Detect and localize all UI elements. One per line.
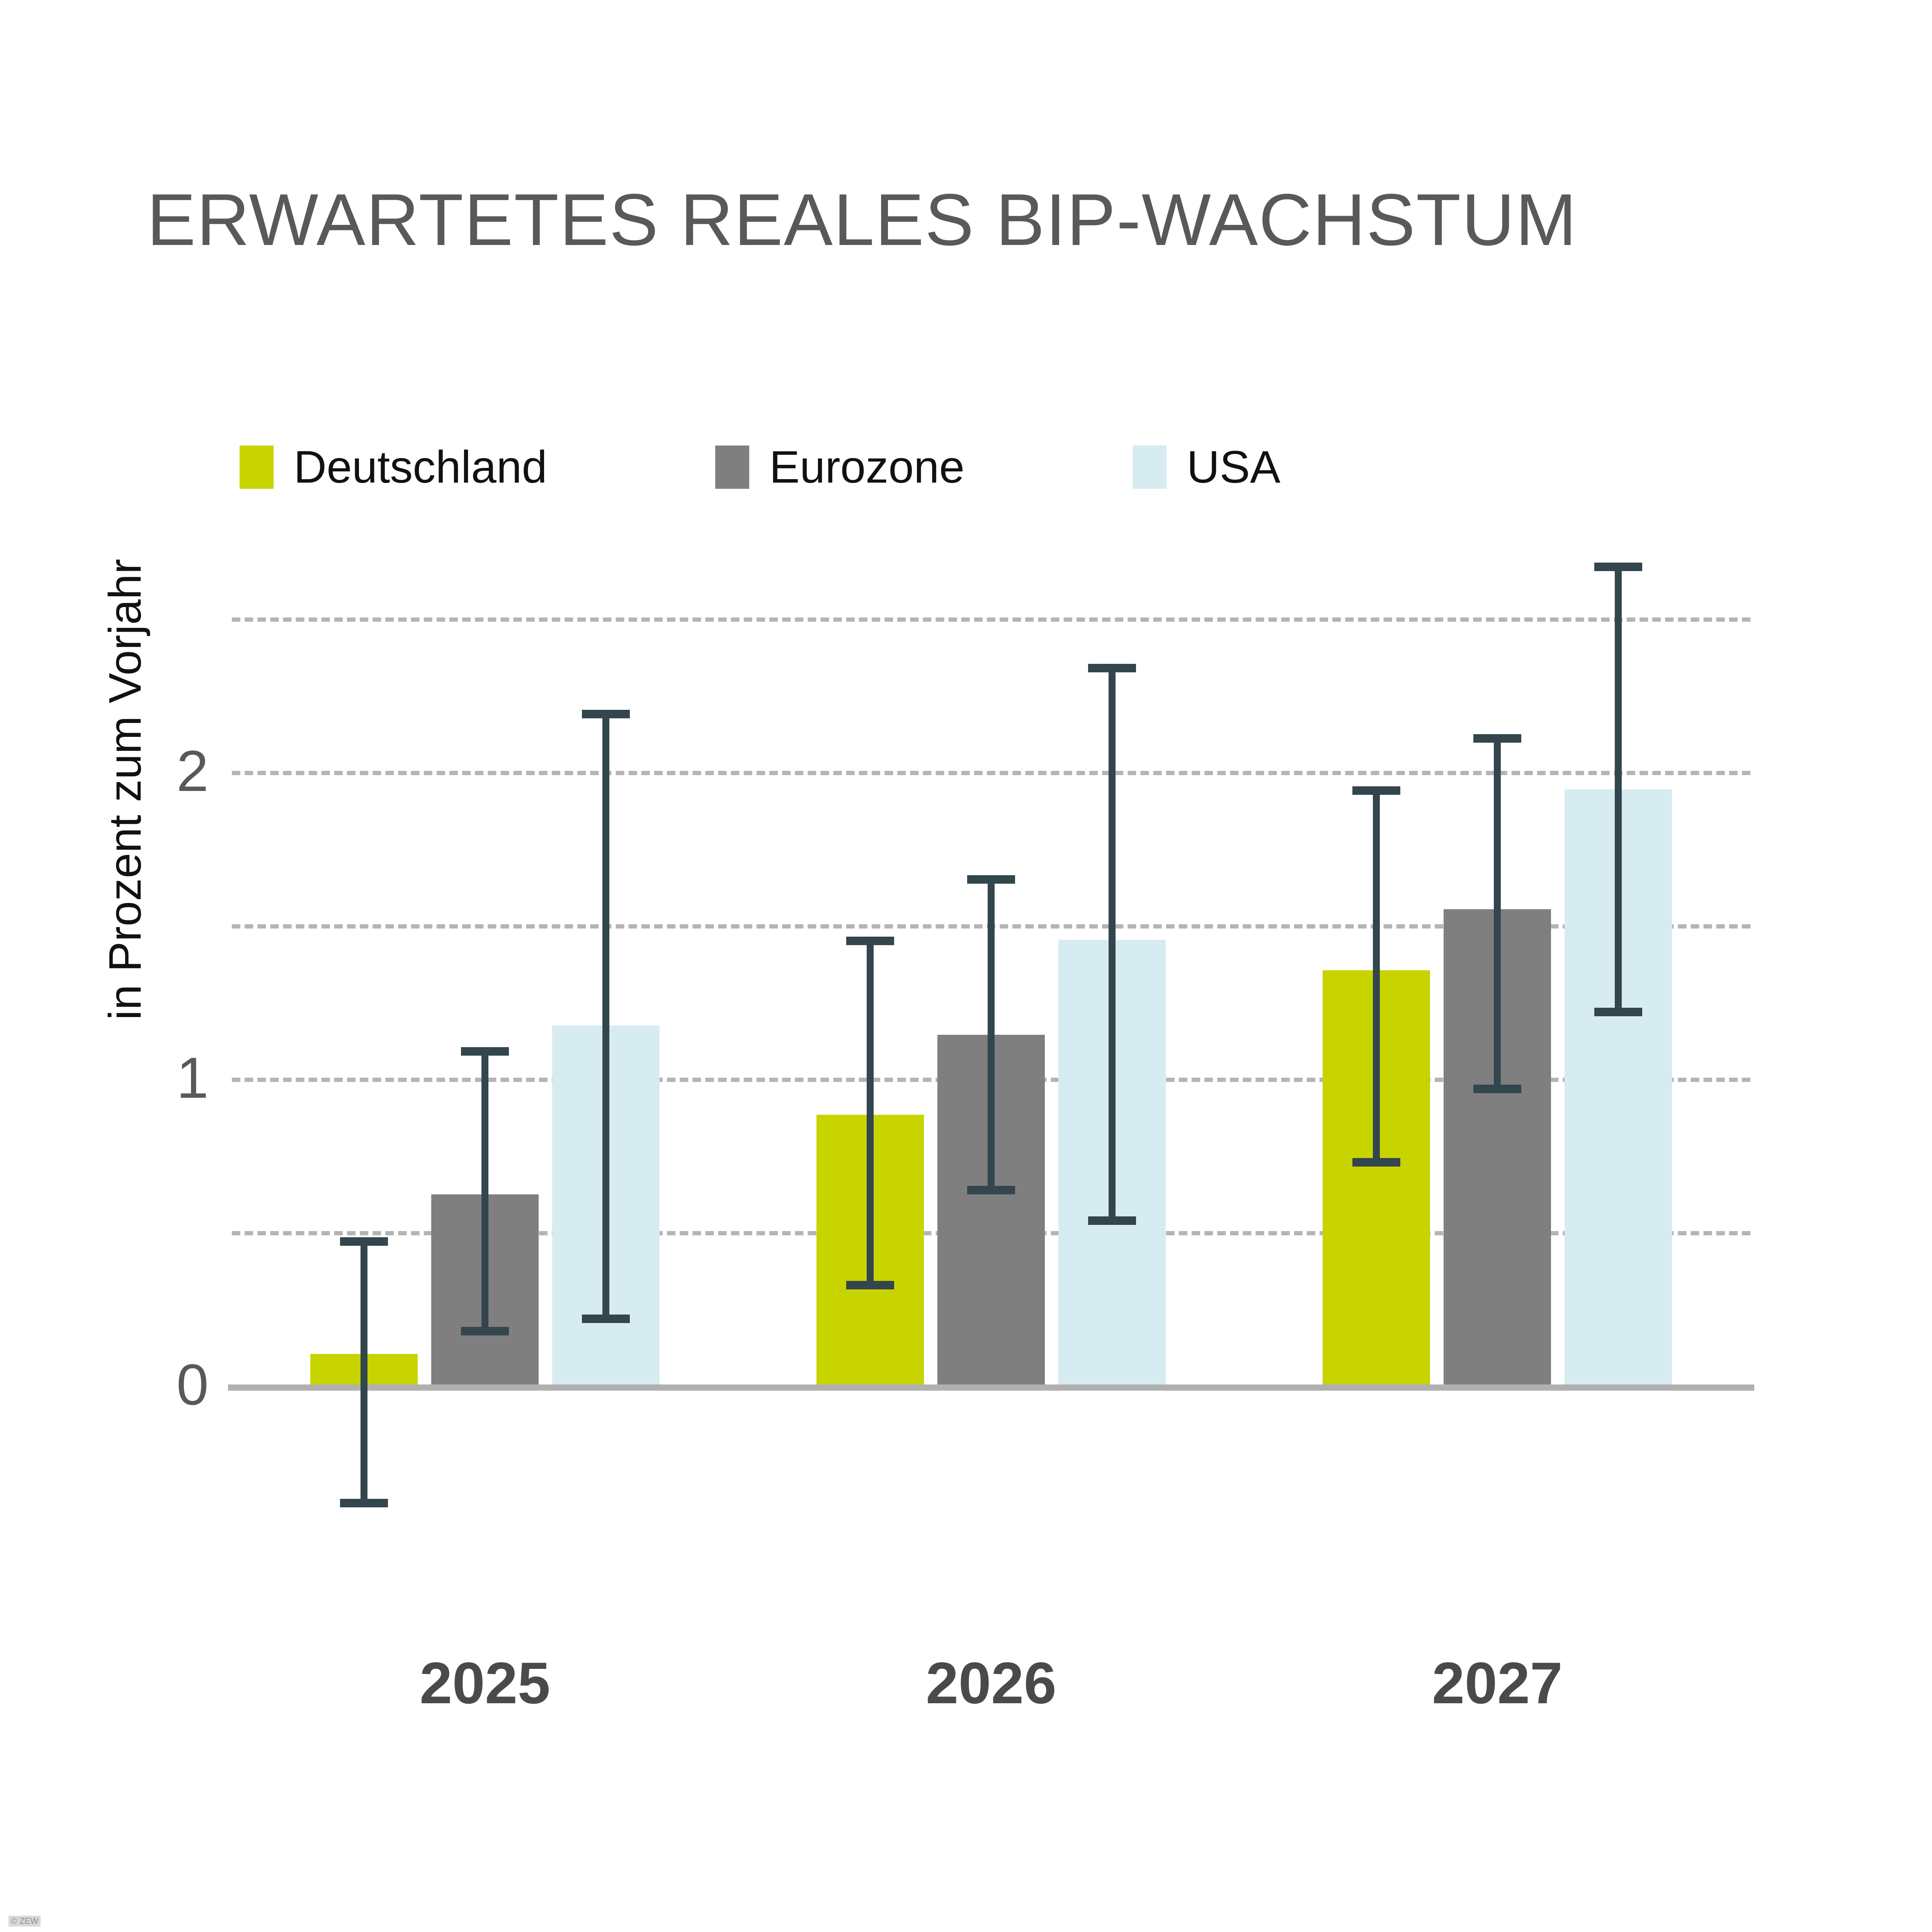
error-bar-line: [988, 875, 995, 1194]
legend-label-deutschland: Deutschland: [294, 444, 547, 490]
legend: Deutschland Eurozone USA: [240, 444, 1281, 490]
credit-label: © ZEW: [9, 1916, 41, 1927]
plot-area: 012: [232, 541, 1750, 1538]
error-bar-cap-lower: [1352, 1158, 1400, 1167]
error-bar-line: [361, 1237, 367, 1507]
error-bar-line: [481, 1047, 488, 1335]
error-bar-cap-upper: [1352, 786, 1400, 795]
x-axis-tick-label-2025: 2025: [420, 1654, 550, 1713]
x-axis-tick-label-2027: 2027: [1432, 1654, 1563, 1713]
error-bar-cap-upper: [1473, 734, 1521, 743]
error-bar-cap-lower: [1473, 1085, 1521, 1093]
legend-swatch-deutschland: [240, 446, 274, 489]
error-bar-line: [1109, 664, 1116, 1225]
x-axis-tick-label-2026: 2026: [926, 1654, 1056, 1713]
error-bar-line: [1373, 786, 1380, 1167]
y-axis-label: in Prozent zum Vorjahr: [102, 559, 148, 1020]
legend-item-eurozone[interactable]: Eurozone: [715, 444, 964, 490]
chart-root: ERWARTETES REALES BIP-WACHSTUM Deutschla…: [0, 0, 1932, 1932]
error-bar-cap-lower: [461, 1327, 509, 1335]
error-bar-cap-lower: [846, 1281, 894, 1289]
legend-swatch-eurozone: [715, 446, 749, 489]
error-bar-line: [1494, 734, 1501, 1093]
legend-label-eurozone: Eurozone: [769, 444, 964, 490]
y-axis-tick-label: 2: [177, 742, 209, 800]
page-title: ERWARTETES REALES BIP-WACHSTUM: [147, 178, 1577, 262]
y-axis-tick-label: 0: [177, 1355, 209, 1413]
y-axis-tick-label: 1: [177, 1049, 209, 1107]
error-bar-cap-upper: [1088, 664, 1136, 672]
error-bar-cap-upper: [846, 937, 894, 945]
error-bar-cap-upper: [582, 710, 630, 718]
error-bar-cap-upper: [461, 1047, 509, 1056]
error-bar-line: [602, 710, 609, 1323]
error-bar-cap-lower: [582, 1315, 630, 1323]
error-bar-cap-upper: [967, 875, 1015, 884]
error-bar-cap-upper: [340, 1237, 388, 1246]
bar-group-2026: [816, 541, 1166, 1538]
bar-group-2025: [310, 541, 660, 1538]
error-bar-line: [867, 937, 874, 1289]
legend-swatch-usa: [1133, 446, 1167, 489]
error-bar-cap-upper: [1594, 563, 1642, 571]
legend-item-usa[interactable]: USA: [1133, 444, 1281, 490]
legend-item-deutschland[interactable]: Deutschland: [240, 444, 547, 490]
error-bar-line: [1615, 563, 1622, 1017]
error-bar-cap-lower: [340, 1499, 388, 1507]
error-bar-cap-lower: [967, 1186, 1015, 1194]
bar-group-2027: [1323, 541, 1672, 1538]
error-bar-cap-lower: [1088, 1216, 1136, 1225]
error-bar-cap-lower: [1594, 1008, 1642, 1016]
legend-label-usa: USA: [1187, 444, 1281, 490]
